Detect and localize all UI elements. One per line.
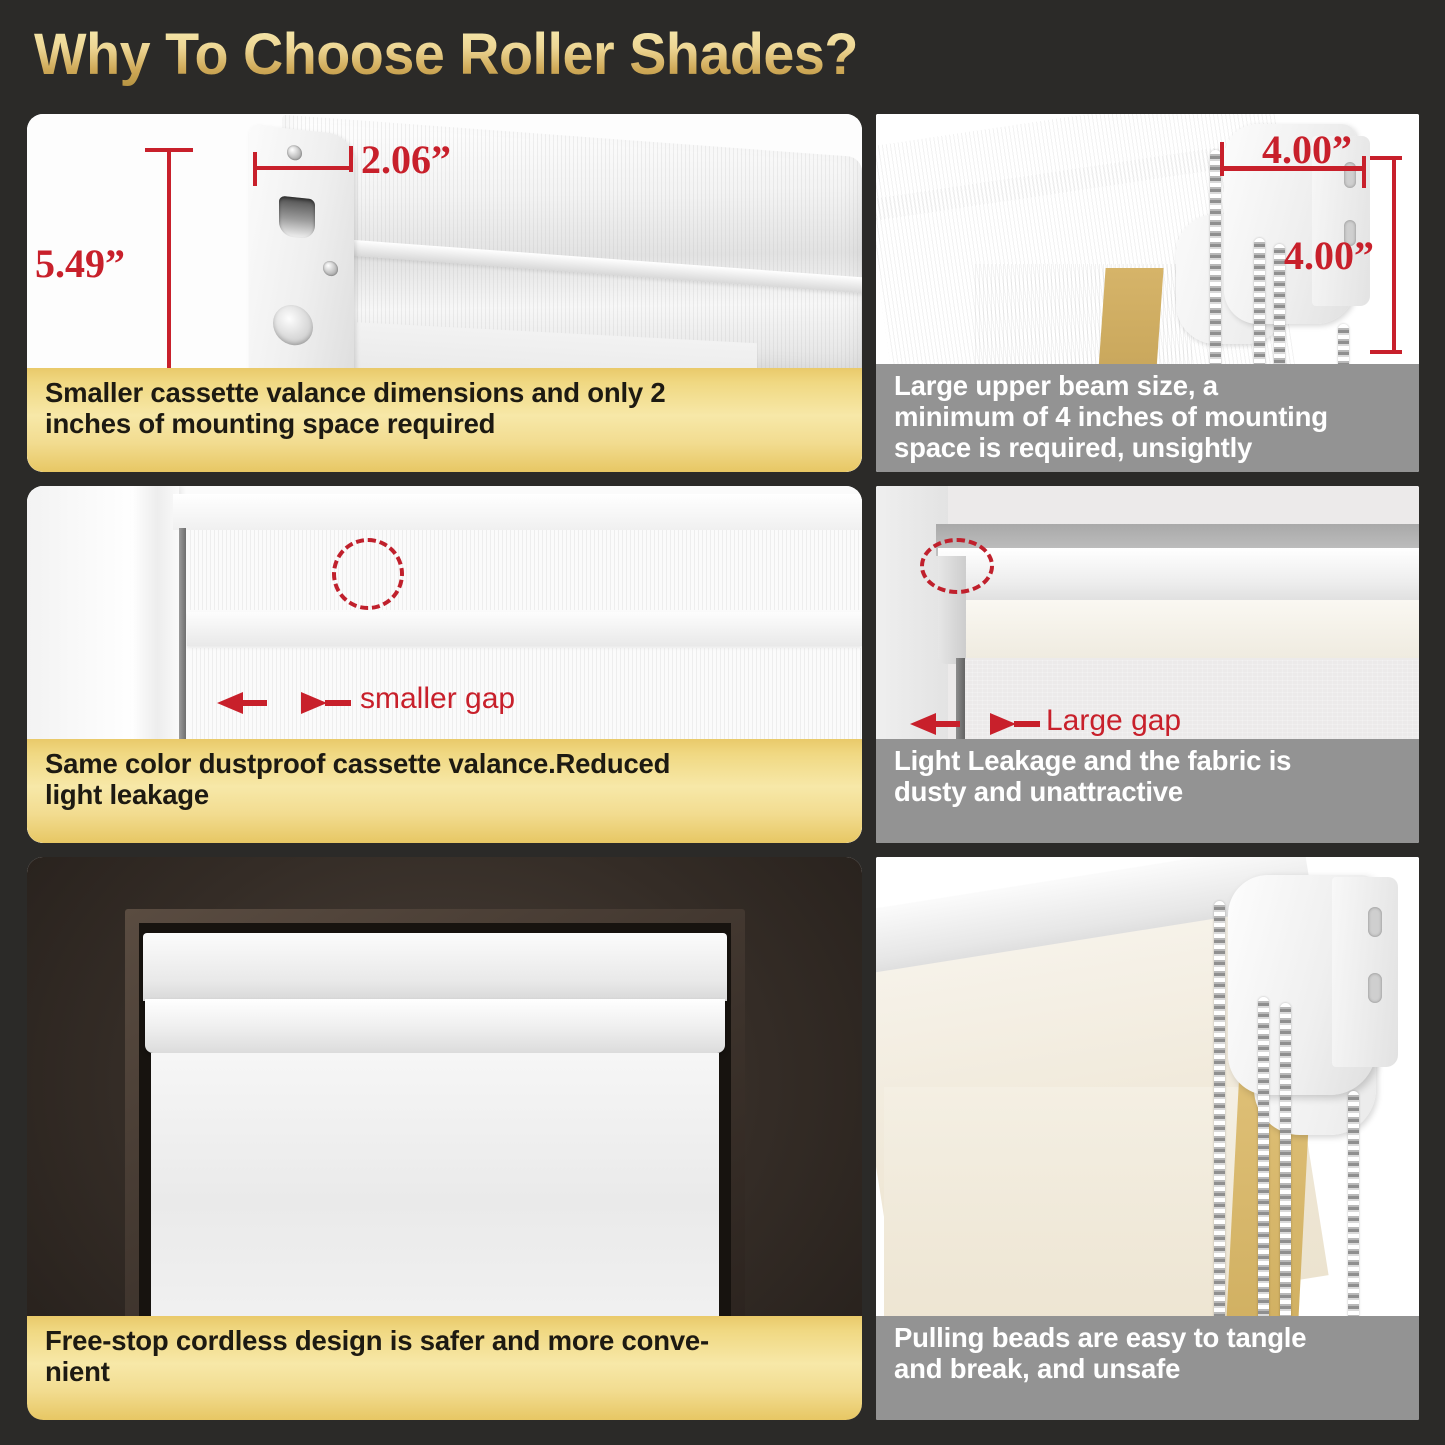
dimension-label-height: 4.00” [1284, 232, 1374, 279]
caption-line-1: Same color dustproof cassette valance.Re… [45, 748, 846, 779]
bead-chain-3 [1280, 1003, 1291, 1353]
bead-chain-1 [1214, 901, 1225, 1353]
dimension-label-width: 2.06” [361, 136, 451, 183]
shade-fabric [151, 1053, 719, 1349]
caption-line-1: Light Leakage and the fabric is [894, 745, 1403, 776]
caption-line-1: Pulling beads are easy to tangle [894, 1322, 1403, 1353]
panel-grid: 2.06” 5.49” Smaller cassette valance dim… [27, 114, 1419, 1420]
caption-large-upper-beam: Large upper beam size, a minimum of 4 in… [876, 364, 1419, 472]
caption-line-2: and break, and unsafe [894, 1353, 1403, 1384]
gap-arrow-right-icon [269, 686, 359, 720]
gap-edge [179, 528, 186, 743]
mounting-plate [1332, 877, 1398, 1067]
panel-pulling-beads: Pulling beads are easy to tangle and bre… [876, 857, 1419, 1420]
valance-knob [273, 303, 313, 347]
row-1: 2.06” 5.49” Smaller cassette valance dim… [27, 114, 1419, 472]
gap-callout-label: Large gap [1046, 704, 1181, 738]
caption-line-2: nient [45, 1356, 846, 1387]
highlight-circle [332, 538, 404, 610]
caption-line-1: Free-stop cordless design is safer and m… [45, 1325, 846, 1356]
caption-line-2: inches of mounting space required [45, 408, 846, 439]
caption-free-stop-cordless: Free-stop cordless design is safer and m… [27, 1316, 862, 1420]
infographic-root: Why To Choose Roller Shades? [0, 0, 1445, 1445]
bead-chain-1 [1210, 150, 1221, 372]
caption-line-2: minimum of 4 inches of mounting [894, 401, 1403, 432]
caption-line-1: Smaller cassette valance dimensions and … [45, 377, 846, 408]
panel-light-leakage: Large gap Light Leakage and the fabric i… [876, 486, 1419, 843]
valance-slot [279, 196, 315, 240]
caption-line-2: light leakage [45, 779, 846, 810]
caption-light-leakage: Light Leakage and the fabric is dusty an… [876, 739, 1419, 843]
title-bar: Why To Choose Roller Shades? [0, 0, 1445, 108]
panel-dustproof-cassette-valance: smaller gap Same color dustproof cassett… [27, 486, 862, 843]
bead-chain-2 [1254, 238, 1265, 372]
cassette-valance [143, 933, 727, 1001]
gap-callout-label: smaller gap [360, 682, 515, 716]
dimension-label-width: 4.00” [1262, 126, 1352, 173]
row-3: Free-stop cordless design is safer and m… [27, 857, 1419, 1420]
gap-arrow-right-icon [966, 708, 1052, 740]
caption-line-3: space is required, unsightly [894, 432, 1403, 463]
caption-cassette-valance-dimensions: Smaller cassette valance dimensions and … [27, 368, 862, 472]
valance-end-cap [249, 124, 354, 385]
panel-free-stop-cordless: Free-stop cordless design is safer and m… [27, 857, 862, 1420]
caption-dustproof-cassette-valance: Same color dustproof cassette valance.Re… [27, 739, 862, 843]
page-title: Why To Choose Roller Shades? [34, 21, 858, 88]
caption-line-2: dusty and unattractive [894, 776, 1403, 807]
caption-pulling-beads: Pulling beads are easy to tangle and bre… [876, 1316, 1419, 1420]
bead-chain-4 [1348, 1091, 1359, 1353]
caption-line-1: Large upper beam size, a [894, 370, 1403, 401]
panel-cassette-valance-dimensions: 2.06” 5.49” Smaller cassette valance dim… [27, 114, 862, 472]
row-2: smaller gap Same color dustproof cassett… [27, 486, 1419, 843]
dimension-label-height: 5.49” [35, 240, 125, 287]
highlight-circle [920, 538, 994, 594]
bead-chain-2 [1258, 997, 1269, 1353]
panel-large-upper-beam: 4.00” 4.00” Large upper beam size, a min… [876, 114, 1419, 472]
